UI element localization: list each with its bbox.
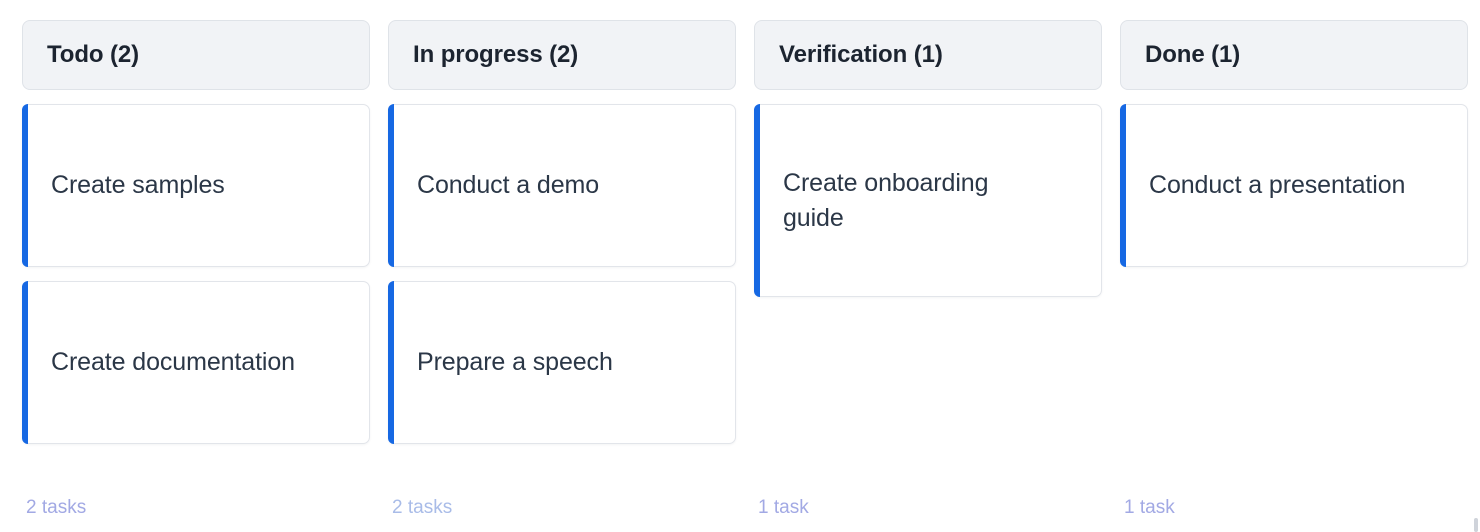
task-card-title: Conduct a demo xyxy=(417,168,599,203)
task-card-title: Create onboarding guide xyxy=(783,166,1015,235)
task-card-title: Create documentation xyxy=(51,345,295,380)
column-footer-done: 1 task xyxy=(1120,498,1468,532)
column-header-done[interactable]: Done (1) xyxy=(1120,20,1468,90)
task-card[interactable]: Create samples xyxy=(22,104,370,267)
column-title: Done (1) xyxy=(1145,43,1240,67)
kanban-column-done: Done (1) Conduct a presentation 1 task xyxy=(1120,20,1468,532)
column-header-in-progress[interactable]: In progress (2) xyxy=(388,20,736,90)
task-card-title: Prepare a speech xyxy=(417,345,613,380)
column-title: Todo (2) xyxy=(47,43,139,67)
column-footer-verification: 1 task xyxy=(754,498,1102,532)
column-header-todo[interactable]: Todo (2) xyxy=(22,20,370,90)
task-card[interactable]: Conduct a presentation xyxy=(1120,104,1468,267)
column-title: Verification (1) xyxy=(779,43,943,67)
kanban-column-todo: Todo (2) Create samples Create documenta… xyxy=(22,20,370,532)
card-list-verification: Create onboarding guide xyxy=(754,104,1102,297)
card-list-todo: Create samples Create documentation xyxy=(22,104,370,444)
column-footer-in-progress: 2 tasks xyxy=(388,498,736,532)
task-count-label: 1 task xyxy=(758,497,809,518)
column-footer-todo: 2 tasks xyxy=(22,498,370,532)
kanban-board: Todo (2) Create samples Create documenta… xyxy=(0,0,1480,532)
column-title: In progress (2) xyxy=(413,43,578,67)
task-card[interactable]: Create onboarding guide xyxy=(754,104,1102,297)
task-card-title: Create samples xyxy=(51,168,225,203)
column-header-verification[interactable]: Verification (1) xyxy=(754,20,1102,90)
task-count-label: 2 tasks xyxy=(26,497,86,518)
kanban-column-in-progress: In progress (2) Conduct a demo Prepare a… xyxy=(388,20,736,532)
kanban-column-verification: Verification (1) Create onboarding guide… xyxy=(754,20,1102,532)
scrollbar-thumb[interactable] xyxy=(1474,518,1478,532)
task-card-title: Conduct a presentation xyxy=(1149,168,1405,203)
task-card[interactable]: Create documentation xyxy=(22,281,370,444)
card-list-done: Conduct a presentation xyxy=(1120,104,1468,267)
task-count-label: 2 tasks xyxy=(392,497,452,518)
task-card[interactable]: Conduct a demo xyxy=(388,104,736,267)
task-count-label: 1 task xyxy=(1124,497,1175,518)
task-card[interactable]: Prepare a speech xyxy=(388,281,736,444)
card-list-in-progress: Conduct a demo Prepare a speech xyxy=(388,104,736,444)
